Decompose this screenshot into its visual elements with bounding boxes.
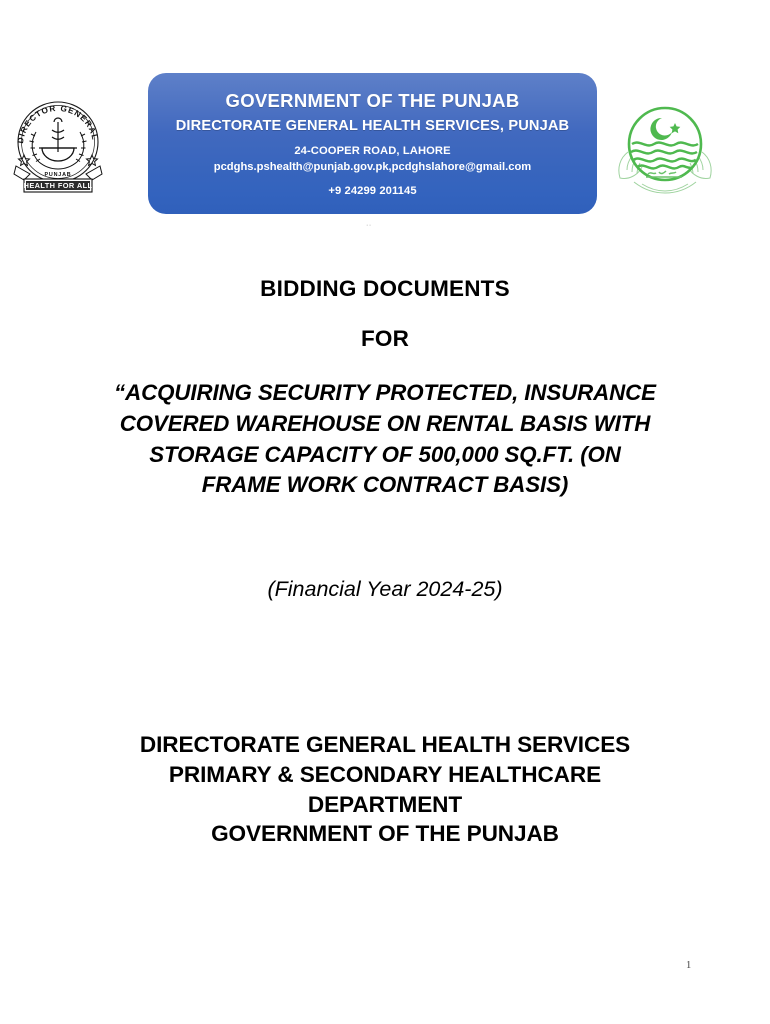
tender-subject-line-3: STORAGE CAPACITY OF 500,000 SQ.FT. (ON	[62, 440, 708, 471]
svg-text:PUNJAB: PUNJAB	[45, 172, 72, 178]
department-line-1: DIRECTORATE GENERAL HEALTH SERVICES	[0, 730, 770, 760]
department-line-3: DEPARTMENT	[0, 790, 770, 820]
banner-government-title: GOVERNMENT OF THE PUNJAB	[148, 89, 597, 112]
director-general-health-seal-icon: DIRECTOR GENERAL HEALTH	[8, 96, 108, 198]
government-of-punjab-emblem-icon	[612, 96, 718, 200]
department-line-2: PRIMARY & SECONDARY HEALTHCARE	[0, 760, 770, 790]
banner-emails: pcdghs.pshealth@punjab.gov.pk,pcdghslaho…	[148, 160, 597, 175]
stray-mark: ··	[366, 222, 372, 229]
title-connector: FOR	[0, 328, 770, 351]
document-header: DIRECTOR GENERAL HEALTH	[0, 0, 770, 250]
page-number: 1	[686, 960, 691, 971]
tender-subject-line-1: “ACQUIRING SECURITY PROTECTED, INSURANCE	[62, 378, 708, 409]
banner-address: 24-COOPER ROAD, LAHORE	[148, 144, 597, 159]
government-header-banner: GOVERNMENT OF THE PUNJAB DIRECTORATE GEN…	[148, 73, 597, 214]
department-line-4: GOVERNMENT OF THE PUNJAB	[0, 819, 770, 849]
banner-directorate-title: DIRECTORATE GENERAL HEALTH SERVICES, PUN…	[148, 117, 597, 135]
svg-text:HEALTH FOR ALL: HEALTH FOR ALL	[24, 181, 93, 190]
tender-subject-line-2: COVERED WAREHOUSE ON RENTAL BASIS WITH	[62, 409, 708, 440]
issuing-department-block: DIRECTORATE GENERAL HEALTH SERVICES PRIM…	[0, 730, 770, 849]
page-title: BIDDING DOCUMENTS	[0, 278, 770, 301]
tender-subject: “ACQUIRING SECURITY PROTECTED, INSURANCE…	[0, 378, 770, 501]
fiscal-year-label: (Financial Year 2024-25)	[0, 578, 770, 602]
banner-phone: +9 24299 201145	[148, 184, 597, 199]
title-block: BIDDING DOCUMENTS FOR	[0, 278, 770, 350]
tender-subject-line-4: FRAME WORK CONTRACT BASIS)	[62, 470, 708, 501]
